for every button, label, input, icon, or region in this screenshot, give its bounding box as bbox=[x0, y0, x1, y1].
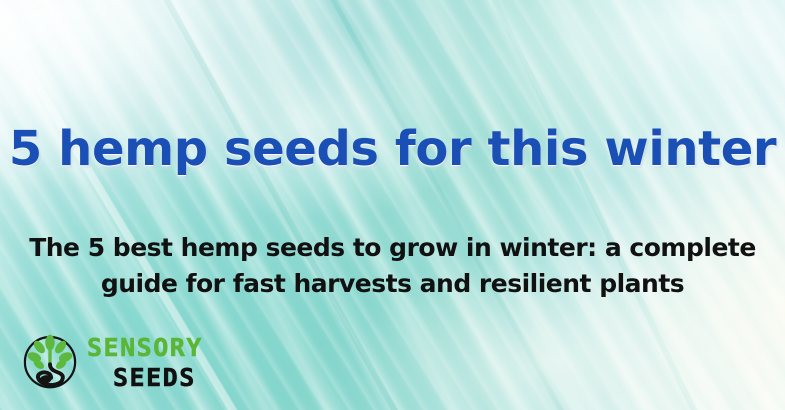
sensory-seeds-logo[interactable]: SENSORY SEEDS bbox=[22, 332, 203, 390]
sprouting-seed-icon bbox=[22, 332, 78, 390]
logo-wordmark: SENSORY SEEDS bbox=[87, 333, 203, 390]
logo-word-sensory: SENSORY bbox=[87, 335, 203, 360]
banner-subheading-line-1: The 5 best hemp seeds to grow in winter:… bbox=[29, 233, 756, 262]
hemp-seeds-promo-banner: 5 hemp seeds for this winter The 5 best … bbox=[0, 0, 785, 410]
banner-subheading-line-2: guide for fast harvests and resilient pl… bbox=[101, 269, 684, 298]
logo-word-seeds: SEEDS bbox=[113, 365, 203, 390]
banner-headline: 5 hemp seeds for this winter bbox=[0, 124, 785, 174]
banner-content: 5 hemp seeds for this winter The 5 best … bbox=[0, 0, 785, 410]
banner-subheading: The 5 best hemp seeds to grow in winter:… bbox=[24, 230, 761, 301]
